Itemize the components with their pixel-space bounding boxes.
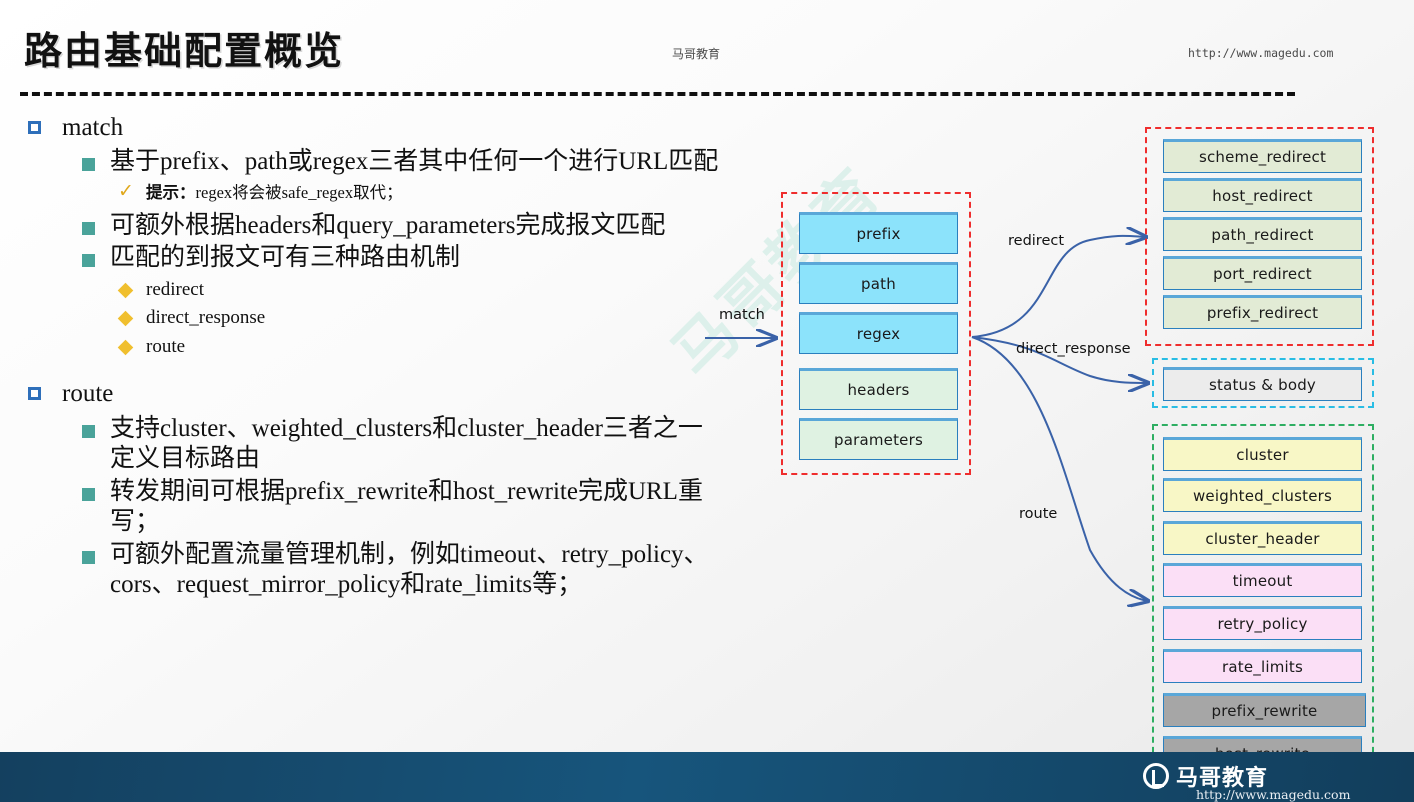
node-parameters[interactable]: parameters (799, 418, 958, 460)
edge-label-route: route (1019, 506, 1057, 522)
node-prefix-rewrite[interactable]: prefix_rewrite (1163, 693, 1366, 727)
node-cluster[interactable]: cluster (1163, 437, 1362, 471)
node-host-redirect[interactable]: host_redirect (1163, 178, 1362, 212)
group-match: prefix path regex headers parameters (781, 192, 971, 475)
routing-diagram: match redirect direct_response route pre… (0, 0, 1414, 802)
node-headers[interactable]: headers (799, 368, 958, 410)
logo-mark-icon (1143, 763, 1169, 789)
node-weighted-clusters[interactable]: weighted_clusters (1163, 478, 1362, 512)
node-path[interactable]: path (799, 262, 958, 304)
group-redirect: scheme_redirect host_redirect path_redir… (1145, 127, 1374, 346)
node-path-redirect[interactable]: path_redirect (1163, 217, 1362, 251)
footer-url: http://www.magedu.com (1196, 787, 1350, 802)
node-cluster-header[interactable]: cluster_header (1163, 521, 1362, 555)
edge-label-direct-response: direct_response (1016, 341, 1131, 357)
node-retry-policy[interactable]: retry_policy (1163, 606, 1362, 640)
node-prefix-redirect[interactable]: prefix_redirect (1163, 295, 1362, 329)
node-rate-limits[interactable]: rate_limits (1163, 649, 1362, 683)
node-timeout[interactable]: timeout (1163, 563, 1362, 597)
node-status-and-body[interactable]: status & body (1163, 367, 1362, 401)
node-regex[interactable]: regex (799, 312, 958, 354)
node-prefix[interactable]: prefix (799, 212, 958, 254)
edge-label-match: match (719, 307, 765, 323)
group-direct-response: status & body (1152, 358, 1374, 408)
edge-label-redirect: redirect (1008, 233, 1064, 249)
node-port-redirect[interactable]: port_redirect (1163, 256, 1362, 290)
node-scheme-redirect[interactable]: scheme_redirect (1163, 139, 1362, 173)
group-route: cluster weighted_clusters cluster_header… (1152, 424, 1374, 773)
